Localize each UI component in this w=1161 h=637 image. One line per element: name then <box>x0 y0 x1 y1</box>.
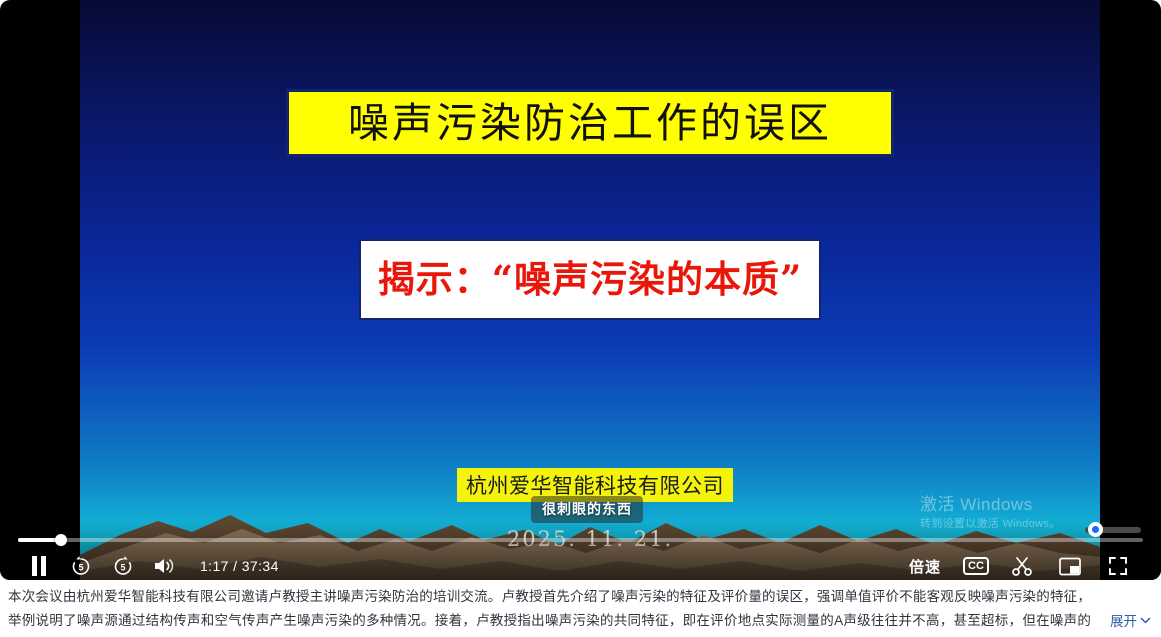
video-player[interactable]: 噪声污染防治工作的误区 揭示：“噪声污染的本质” 杭州爱华智能科技有限公司 20… <box>0 0 1161 580</box>
progress-bar[interactable] <box>18 533 1143 547</box>
player-controls[interactable]: 5 5 <box>0 522 1161 580</box>
description-text: 本次会议由杭州爱华智能科技有限公司邀请卢教授主讲噪声污染防治的培训交流。卢教授首… <box>8 585 1153 633</box>
progress-track[interactable] <box>18 538 1143 542</box>
volume-button[interactable] <box>144 552 186 580</box>
expand-label: 展开 <box>1110 610 1137 634</box>
slide-subtitle-box: 揭示：“噪声污染的本质” <box>359 239 821 320</box>
svg-text:5: 5 <box>120 562 125 572</box>
right-controls-group[interactable]: 倍速 CC <box>899 552 1139 580</box>
rewind-5-button[interactable]: 5 <box>60 552 102 580</box>
svg-text:5: 5 <box>78 562 83 572</box>
forward-5-icon: 5 <box>111 554 135 578</box>
video-slide[interactable]: 噪声污染防治工作的误区 揭示：“噪声污染的本质” 杭州爱华智能科技有限公司 20… <box>80 0 1100 580</box>
slide-subtitle: 揭示：“噪声污染的本质” <box>378 261 803 298</box>
pip-button[interactable] <box>1049 552 1091 580</box>
speed-button[interactable]: 倍速 <box>899 556 951 577</box>
scissors-icon <box>1011 555 1033 577</box>
clip-button[interactable] <box>1001 552 1043 580</box>
time-display: 1:17 / 37:34 <box>200 558 279 574</box>
slide-title: 噪声污染防治工作的误区 <box>348 103 832 144</box>
pause-button[interactable] <box>18 552 60 580</box>
left-controls-group[interactable]: 5 5 <box>18 552 279 580</box>
video-description: 本次会议由杭州爱华智能科技有限公司邀请卢教授主讲噪声污染防治的培训交流。卢教授首… <box>0 585 1161 637</box>
forward-5-button[interactable]: 5 <box>102 552 144 580</box>
slide-title-box: 噪声污染防治工作的误区 <box>286 89 894 157</box>
chevron-down-icon <box>1140 610 1151 634</box>
danmaku-comment: 很刺眼的东西 <box>531 496 643 523</box>
volume-slider-handle[interactable] <box>1088 522 1103 537</box>
pip-icon <box>1059 557 1081 576</box>
fullscreen-icon <box>1108 556 1128 576</box>
pause-icon <box>31 556 47 576</box>
fullscreen-button[interactable] <box>1097 552 1139 580</box>
progress-handle[interactable] <box>55 534 67 546</box>
captions-button[interactable]: CC <box>963 557 989 575</box>
volume-icon <box>153 556 177 576</box>
expand-description-button[interactable]: 展开 <box>1098 610 1151 634</box>
replay-5-icon: 5 <box>69 554 93 578</box>
